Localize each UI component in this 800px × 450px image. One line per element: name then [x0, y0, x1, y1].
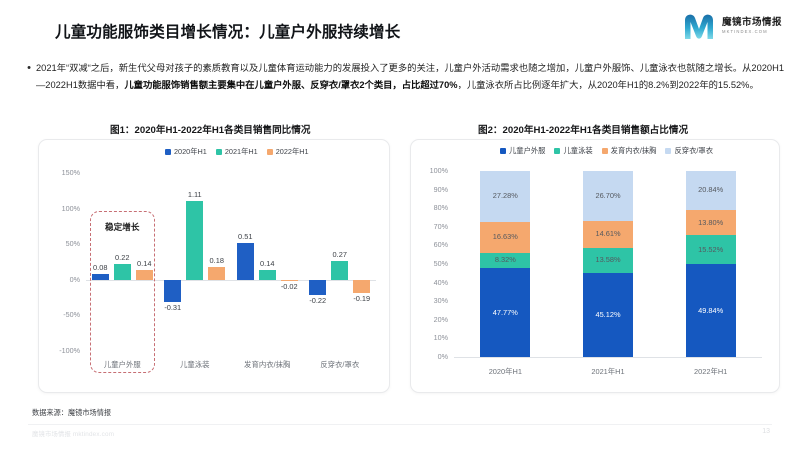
legend-label: 儿童户外服: [509, 146, 545, 156]
chart2-segment-value-label: 13.58%: [577, 255, 639, 264]
chart2-ytick-label: 20%: [412, 315, 448, 324]
chart1-xtick-label: 反穿衣/罩衣: [304, 359, 377, 370]
chart1-bar-value-label: 0.18: [201, 256, 232, 265]
chart1-bar-4-1[interactable]: [309, 280, 326, 296]
page-number: 13: [762, 428, 770, 435]
paragraph-part-2: ，儿童泳衣所占比例逐年扩大，从2020年H1的8.2%到2022年的15.52%…: [458, 80, 759, 90]
chart2-segment-value-label: 27.28%: [474, 191, 536, 200]
chart1-ytick-label: -100%: [40, 346, 80, 355]
legend-item-3[interactable]: 发育内衣/抹胸: [602, 146, 657, 156]
chart2-ytick-label: 90%: [412, 185, 448, 194]
logo-text-block: 魔镜市场情报 MKTINDEX.COM: [722, 18, 782, 35]
chart2-segment-value-label: 13.80%: [680, 218, 742, 227]
chart1-ytick-label: 100%: [40, 204, 80, 213]
chart2-ytick-label: 0%: [412, 352, 448, 361]
chart1-title: 图1：2020年H1-2022年H1各类目销售同比情况: [110, 122, 310, 136]
legend-item-1[interactable]: 2020年H1: [165, 147, 207, 157]
chart2-ytick-label: 50%: [412, 259, 448, 268]
chart2-ytick-label: 80%: [412, 203, 448, 212]
chart1-bar-value-label: 0.51: [230, 232, 261, 241]
chart1-plot: 2020年H12021年H12022年H1150%100%50%0%-50%-1…: [38, 139, 390, 393]
chart2-baseline-axis: [454, 357, 762, 358]
legend-item-4[interactable]: 反穿衣/罩衣: [665, 146, 713, 156]
legend-label: 发育内衣/抹胸: [611, 146, 657, 156]
chart1-bar-3-2[interactable]: [259, 270, 276, 280]
legend-swatch-icon: [500, 148, 506, 154]
chart1-highlight-label: 稳定增长: [90, 221, 155, 233]
chart2-plot: 儿童户外服儿童泳装发育内衣/抹胸反穿衣/罩衣100%90%80%70%60%50…: [410, 139, 780, 393]
chart2-legend: 儿童户外服儿童泳装发育内衣/抹胸反穿衣/罩衣: [500, 146, 713, 156]
legend-label: 2021年H1: [225, 147, 258, 157]
legend-label: 2022年H1: [276, 147, 309, 157]
footer-brand-line: 魔镜市场情报 mktindex.com: [32, 429, 114, 438]
chart2-ytick-label: 10%: [412, 333, 448, 342]
chart2-segment-value-label: 49.84%: [680, 306, 742, 315]
chart1-bar-value-label: -0.22: [302, 296, 333, 305]
chart2-xtick-label: 2021年H1: [557, 366, 660, 377]
legend-label: 2020年H1: [174, 147, 207, 157]
chart2-ytick-label: 100%: [412, 166, 448, 175]
logo-cn-label: 魔镜市场情报: [722, 18, 782, 28]
logo-en-label: MKTINDEX.COM: [722, 30, 782, 34]
chart2-ytick-label: 60%: [412, 240, 448, 249]
legend-swatch-icon: [267, 149, 273, 155]
legend-item-3[interactable]: 2022年H1: [267, 147, 309, 157]
chart1-bar-value-label: 1.11: [179, 190, 210, 199]
chart1-bar-2-2[interactable]: [186, 201, 203, 280]
chart1-ytick-label: 150%: [40, 168, 80, 177]
chart2-segment-value-label: 16.63%: [474, 232, 536, 241]
legend-swatch-icon: [665, 148, 671, 154]
footer-divider: [28, 424, 772, 425]
brand-logo: 魔镜市场情报 MKTINDEX.COM: [682, 11, 782, 41]
chart1-bar-4-3[interactable]: [353, 280, 370, 294]
bullet-body-text: 2021年“双减“之后，新生代父母对孩子的素质教育以及儿童体育运动能力的发展投入…: [36, 60, 784, 94]
data-source-note: 数据来源：魔镜市场情报: [32, 408, 111, 418]
chart2-xtick-label: 2022年H1: [659, 366, 762, 377]
chart1-bar-4-2[interactable]: [331, 261, 348, 280]
chart1-highlight-box: [90, 211, 155, 373]
chart2-segment-value-label: 14.61%: [577, 229, 639, 238]
chart2-segment-value-label: 15.52%: [680, 245, 742, 254]
legend-item-1[interactable]: 儿童户外服: [500, 146, 545, 156]
legend-label: 儿童泳装: [563, 146, 592, 156]
bullet-paragraph: • 2021年“双减“之后，新生代父母对孩子的素质教育以及儿童体育运动能力的发展…: [22, 60, 784, 94]
chart1-bar-3-3[interactable]: [281, 280, 298, 281]
chart1-xtick-label: 儿童泳装: [159, 359, 232, 370]
legend-item-2[interactable]: 儿童泳装: [554, 146, 592, 156]
chart1-bar-value-label: -0.02: [274, 282, 305, 291]
legend-swatch-icon: [602, 148, 608, 154]
chart2-segment-value-label: 20.84%: [680, 185, 742, 194]
paragraph-bold-part: 儿童功能服饰销售额主要集中在儿童户外服、反穿衣/罩衣2个类目，占比超过70%: [124, 80, 457, 90]
bullet-marker: •: [22, 60, 36, 94]
legend-label: 反穿衣/罩衣: [674, 146, 713, 156]
slide-root: 儿童功能服饰类目增长情况：儿童户外服持续增长 魔镜市场情报 MKTINDEX.C…: [0, 0, 800, 450]
chart2-ytick-label: 30%: [412, 296, 448, 305]
page-title: 儿童功能服饰类目增长情况：儿童户外服持续增长: [55, 20, 400, 42]
chart1-bar-value-label: -0.31: [157, 303, 188, 312]
legend-swatch-icon: [554, 148, 560, 154]
chart1-xtick-label: 发育内衣/抹胸: [231, 359, 304, 370]
chart1-bar-2-1[interactable]: [164, 280, 181, 302]
chart2-segment-value-label: 8.32%: [474, 255, 536, 264]
logo-m-icon: [682, 11, 716, 41]
chart2-title: 图2：2020年H1-2022年H1各类目销售额占比情况: [478, 122, 688, 136]
chart2-segment-value-label: 45.12%: [577, 310, 639, 319]
chart1-ytick-label: 50%: [40, 239, 80, 248]
chart1-ytick-label: -50%: [40, 310, 80, 319]
chart1-bar-value-label: -0.19: [346, 294, 377, 303]
chart2-ytick-label: 40%: [412, 278, 448, 287]
chart2-xtick-label: 2020年H1: [454, 366, 557, 377]
chart1-ytick-label: 0%: [40, 275, 80, 284]
chart2-segment-value-label: 26.70%: [577, 191, 639, 200]
chart1-bar-value-label: 0.14: [252, 259, 283, 268]
chart2-segment-value-label: 47.77%: [474, 308, 536, 317]
chart1-bar-2-3[interactable]: [208, 267, 225, 280]
legend-item-2[interactable]: 2021年H1: [216, 147, 258, 157]
chart1-bar-value-label: 0.27: [324, 250, 355, 259]
legend-swatch-icon: [165, 149, 171, 155]
legend-swatch-icon: [216, 149, 222, 155]
chart2-ytick-label: 70%: [412, 222, 448, 231]
chart1-legend: 2020年H12021年H12022年H1: [165, 147, 309, 157]
